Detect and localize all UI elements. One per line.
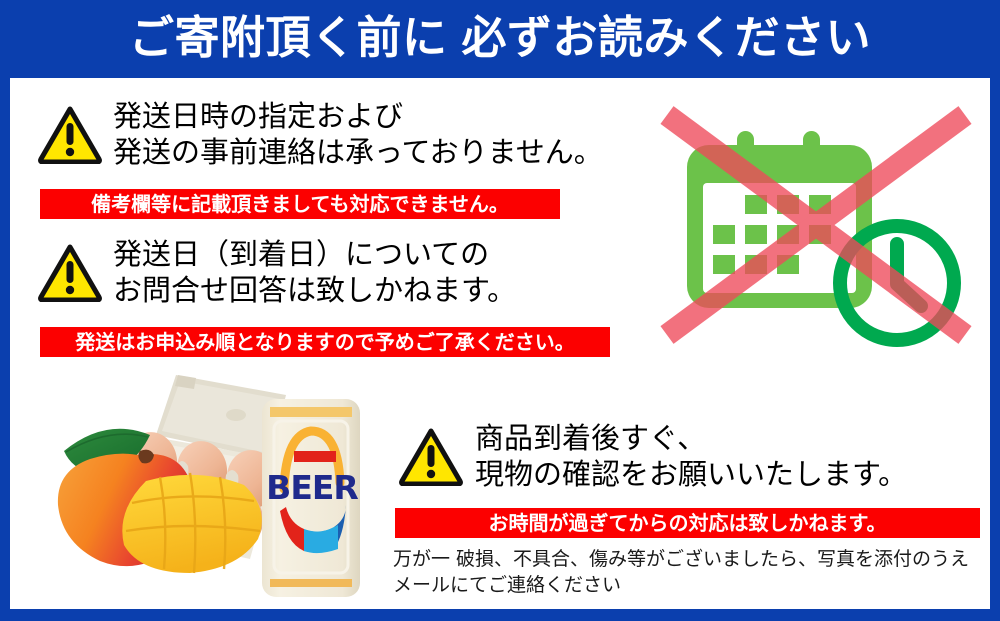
- notice-line: 発送日時の指定および: [113, 98, 603, 134]
- notice-line: 商品到着後すぐ、: [475, 420, 907, 456]
- svg-text:BEER: BEER: [266, 468, 358, 507]
- page-title-part1: ご寄附頂く前に: [129, 11, 448, 64]
- notice-line: 発送の事前連絡は承っておりません。: [113, 134, 603, 170]
- notice-line: 発送日（到着日）についての: [113, 236, 516, 272]
- notice-line: お問合せ回答は致しかねます。: [113, 272, 516, 308]
- warning-triangle-icon: [38, 244, 102, 302]
- notice-footnote-line: メールにてご連絡ください: [393, 572, 969, 598]
- header-bar: ご寄附頂く前に必ずお読みください: [0, 0, 1000, 78]
- notice-text-block: 商品到着後すぐ、 現物の確認をお願いいたします。: [475, 420, 907, 492]
- notice-line: 現物の確認をお願いいたします。: [475, 456, 907, 492]
- warning-triangle-icon: [38, 106, 102, 164]
- notice-text-block: 発送日（到着日）についての お問合せ回答は致しかねます。: [113, 236, 516, 308]
- notice-footnote: 万が一 破損、不具合、傷み等がございましたら、写真を添付のうえ メールにてご連絡…: [393, 546, 969, 598]
- page-title-part2: 必ずお読みください: [462, 11, 872, 64]
- calendar-clock-prohibited-illustration: [645, 103, 985, 368]
- notice-banner-image: ご寄附頂く前に必ずお読みください 発送日時の指定および 発送の事前連絡は承ってお…: [0, 0, 1000, 621]
- notice-block-check-on-arrival: 商品到着後すぐ、 現物の確認をお願いいたします。 お時間が過ぎてからの対応は致し…: [385, 408, 990, 608]
- alert-banner: 発送はお申込み順となりますので予めご了承ください。: [40, 327, 610, 357]
- food-products-illustration: BEER: [28, 373, 388, 609]
- notice-block-shipping-date-inquiry: 発送日（到着日）についての お問合せ回答は致しかねます。 発送はお申込み順となり…: [10, 216, 650, 351]
- page-title: ご寄附頂く前に必ずお読みください: [0, 8, 1000, 68]
- notice-text-block: 発送日時の指定および 発送の事前連絡は承っておりません。: [113, 98, 603, 170]
- warning-triangle-icon: [399, 428, 463, 486]
- alert-banner: 備考欄等に記載頂きましても対応できません。: [40, 189, 560, 219]
- notice-block-shipping-date-designation: 発送日時の指定および 発送の事前連絡は承っておりません。 備考欄等に記載頂きまし…: [10, 78, 650, 213]
- beer-can-icon: BEER: [262, 399, 360, 597]
- notice-footnote-line: 万が一 破損、不具合、傷み等がございましたら、写真を添付のうえ: [393, 546, 969, 572]
- alert-banner: お時間が過ぎてからの対応は致しかねます。: [395, 508, 980, 538]
- content-panel: 発送日時の指定および 発送の事前連絡は承っておりません。 備考欄等に記載頂きまし…: [10, 78, 990, 609]
